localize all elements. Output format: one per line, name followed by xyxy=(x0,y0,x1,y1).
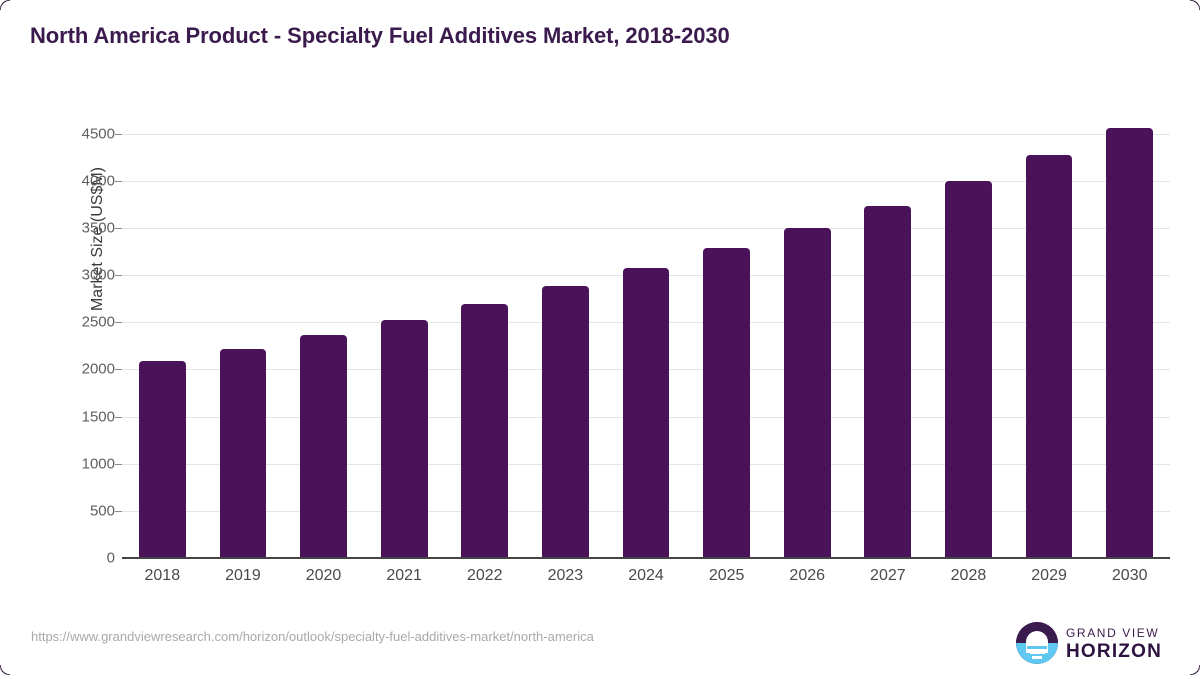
logo-sun-dome xyxy=(1026,631,1048,653)
y-tick-label-3500: 3500 xyxy=(82,220,115,237)
bar-2027[interactable] xyxy=(864,206,911,559)
gridline-4500 xyxy=(122,134,1170,135)
bar-2020[interactable] xyxy=(300,335,347,558)
y-tick-label-1500: 1500 xyxy=(82,408,115,425)
y-axis-tick-labels: 050010001500200025003000350040004500 xyxy=(0,0,115,675)
x-axis-line xyxy=(122,557,1170,559)
y-tick-label-1000: 1000 xyxy=(82,455,115,472)
logo-stripe-2 xyxy=(1030,651,1045,654)
x-tick-label-2030: 2030 xyxy=(1112,567,1148,585)
y-tick-label-0: 0 xyxy=(107,550,115,567)
y-tick-label-2000: 2000 xyxy=(82,361,115,378)
bar-2022[interactable] xyxy=(461,304,508,558)
x-tick-label-2026: 2026 xyxy=(789,567,825,585)
grand-view-horizon-logo[interactable]: GRAND VIEW HORIZON xyxy=(1016,620,1168,666)
bar-2029[interactable] xyxy=(1026,155,1073,558)
x-tick-label-2029: 2029 xyxy=(1031,567,1067,585)
y-tick-mark-2500 xyxy=(115,322,122,323)
y-tick-mark-4500 xyxy=(115,134,122,135)
x-tick-label-2021: 2021 xyxy=(386,567,422,585)
bar-2026[interactable] xyxy=(784,228,831,558)
y-tick-label-4000: 4000 xyxy=(82,172,115,189)
logo-text-horizon: HORIZON xyxy=(1066,641,1162,663)
y-tick-label-2500: 2500 xyxy=(82,314,115,331)
frame-corner-bottom-right xyxy=(1190,665,1200,675)
y-tick-mark-3000 xyxy=(115,275,122,276)
x-tick-label-2019: 2019 xyxy=(225,567,261,585)
bar-2023[interactable] xyxy=(542,286,589,558)
bar-2028[interactable] xyxy=(945,181,992,558)
gridline-3500 xyxy=(122,228,1170,229)
y-tick-mark-500 xyxy=(115,511,122,512)
y-tick-mark-1000 xyxy=(115,464,122,465)
x-axis-tick-labels: 2018201920202021202220232024202520262027… xyxy=(122,567,1170,597)
chart-title: North America Product - Specialty Fuel A… xyxy=(30,23,730,49)
y-tick-mark-1500 xyxy=(115,417,122,418)
x-tick-label-2022: 2022 xyxy=(467,567,503,585)
bar-2018[interactable] xyxy=(139,361,186,558)
y-tick-mark-4000 xyxy=(115,181,122,182)
y-tick-mark-3500 xyxy=(115,228,122,229)
chart-page: North America Product - Specialty Fuel A… xyxy=(0,0,1200,675)
x-tick-label-2024: 2024 xyxy=(628,567,664,585)
y-tick-mark-2000 xyxy=(115,369,122,370)
y-tick-label-500: 500 xyxy=(90,502,115,519)
y-tick-label-4500: 4500 xyxy=(82,125,115,142)
x-tick-label-2023: 2023 xyxy=(548,567,584,585)
x-tick-label-2027: 2027 xyxy=(870,567,906,585)
logo-stripe-1 xyxy=(1027,646,1047,649)
x-tick-label-2025: 2025 xyxy=(709,567,745,585)
gridline-4000 xyxy=(122,181,1170,182)
x-tick-label-2028: 2028 xyxy=(951,567,987,585)
x-tick-label-2018: 2018 xyxy=(145,567,181,585)
horizon-sun-icon xyxy=(1016,622,1058,664)
plot-area xyxy=(122,115,1170,558)
bar-2021[interactable] xyxy=(381,320,428,558)
x-tick-label-2020: 2020 xyxy=(306,567,342,585)
bar-2030[interactable] xyxy=(1106,128,1153,558)
source-url[interactable]: https://www.grandviewresearch.com/horizo… xyxy=(31,629,594,644)
bar-2019[interactable] xyxy=(220,349,267,558)
bar-2025[interactable] xyxy=(703,248,750,558)
bar-2024[interactable] xyxy=(623,268,670,558)
y-tick-label-3000: 3000 xyxy=(82,267,115,284)
logo-text-grand-view: GRAND VIEW xyxy=(1066,626,1159,640)
logo-stripe-3 xyxy=(1032,656,1042,659)
frame-corner-top-right xyxy=(1190,0,1200,10)
